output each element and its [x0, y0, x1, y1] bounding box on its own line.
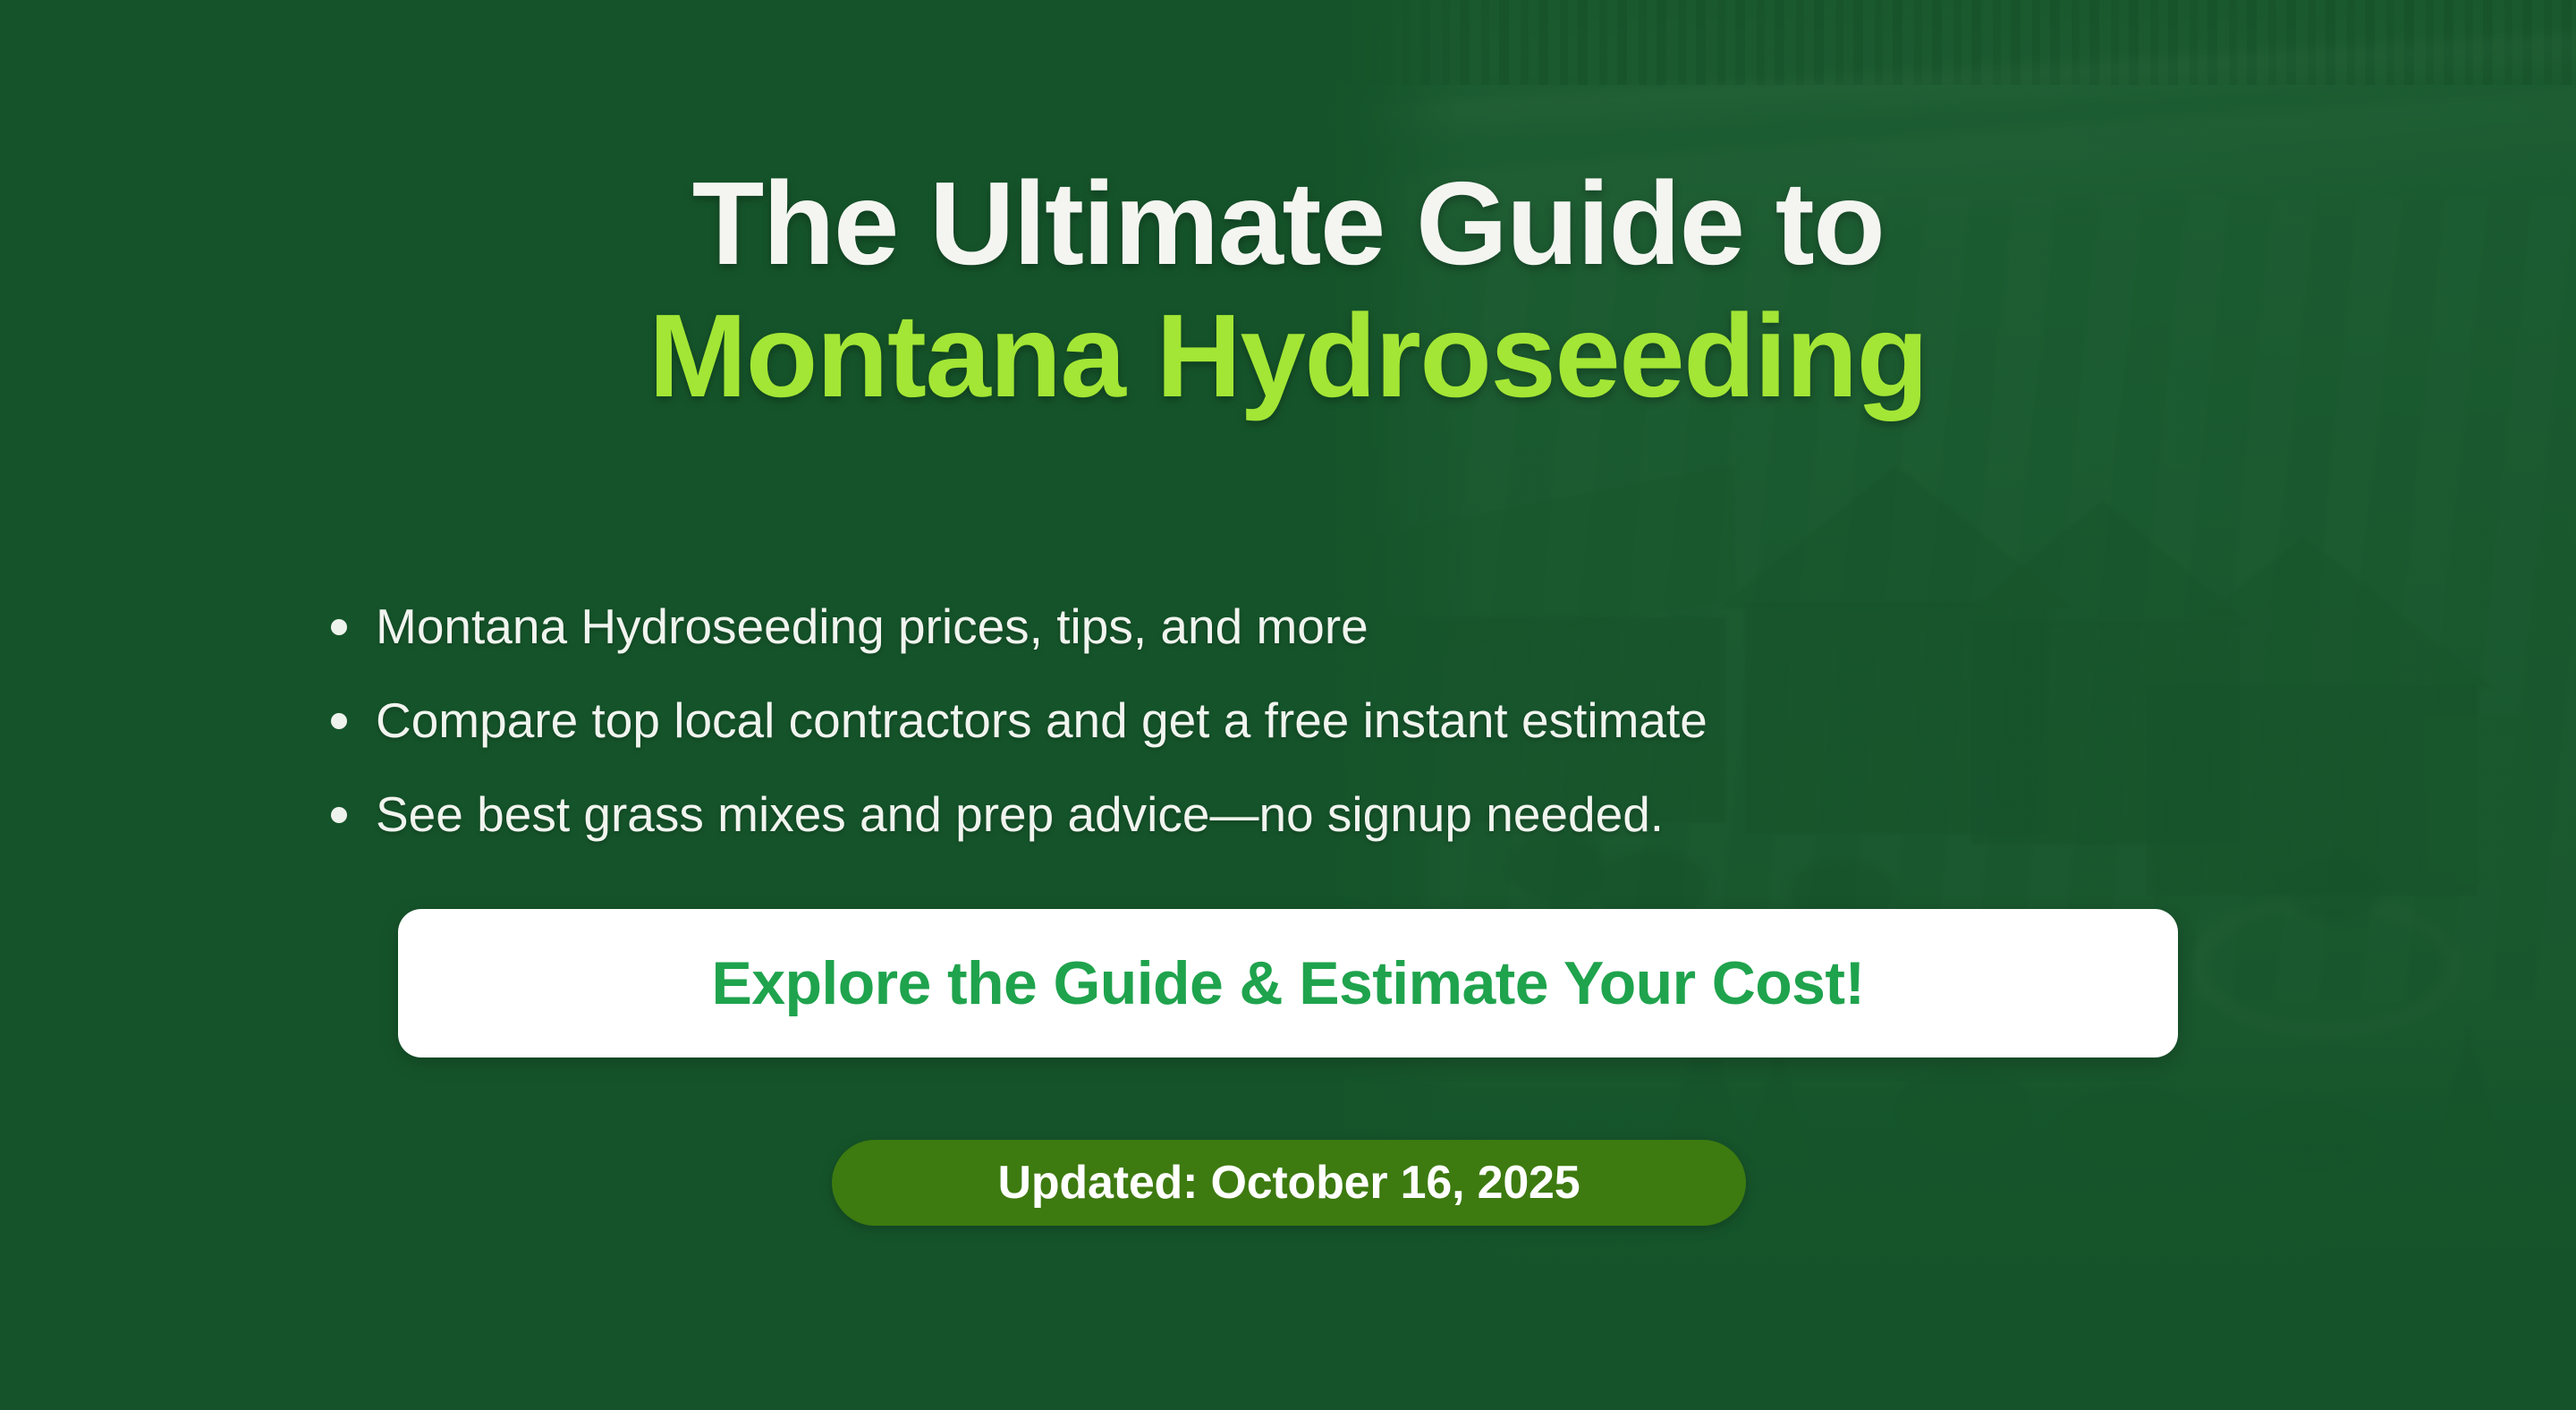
banner-content: The Ultimate Guide to Montana Hydroseedi…: [0, 0, 2576, 1410]
page-title: The Ultimate Guide to Montana Hydroseedi…: [0, 157, 2576, 422]
updated-date-label: Updated: October 16, 2025: [998, 1156, 1580, 1210]
updated-date-badge: Updated: October 16, 2025: [832, 1140, 1746, 1226]
bullet-dot-icon: [331, 619, 347, 635]
hero-banner: The Ultimate Guide to Montana Hydroseedi…: [0, 0, 2576, 1410]
list-item: Compare top local contractors and get a …: [322, 674, 2254, 768]
list-item: Montana Hydroseeding prices, tips, and m…: [322, 580, 2254, 674]
bullet-text: Compare top local contractors and get a …: [376, 692, 1707, 748]
headline-line-2: Montana Hydroseeding: [0, 290, 2576, 422]
bullet-dot-icon: [331, 807, 347, 823]
explore-guide-cta-button[interactable]: Explore the Guide & Estimate Your Cost!: [398, 909, 2178, 1057]
cta-button-label: Explore the Guide & Estimate Your Cost!: [712, 948, 1865, 1018]
bullet-text: Montana Hydroseeding prices, tips, and m…: [376, 599, 1368, 654]
list-item: See best grass mixes and prep advice—no …: [322, 768, 2254, 862]
headline-line-1: The Ultimate Guide to: [0, 157, 2576, 290]
bullet-text: See best grass mixes and prep advice—no …: [376, 786, 1664, 842]
bullet-dot-icon: [331, 713, 347, 729]
feature-bullet-list: Montana Hydroseeding prices, tips, and m…: [322, 580, 2254, 862]
